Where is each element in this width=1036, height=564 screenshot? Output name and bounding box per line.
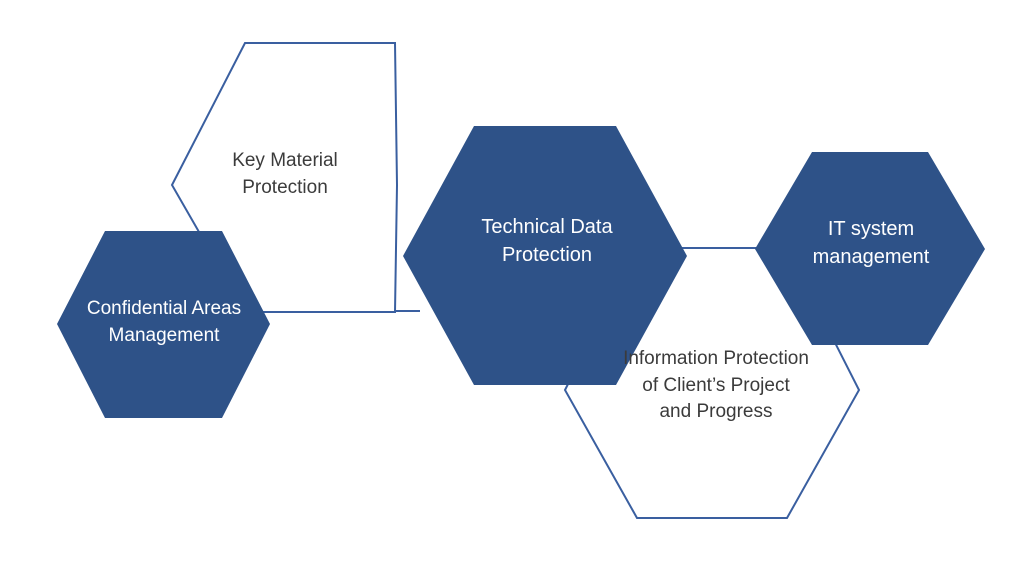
hexagon-diagram-svg (0, 0, 1036, 564)
diagram-canvas: Confidential Areas Management Key Materi… (0, 0, 1036, 564)
